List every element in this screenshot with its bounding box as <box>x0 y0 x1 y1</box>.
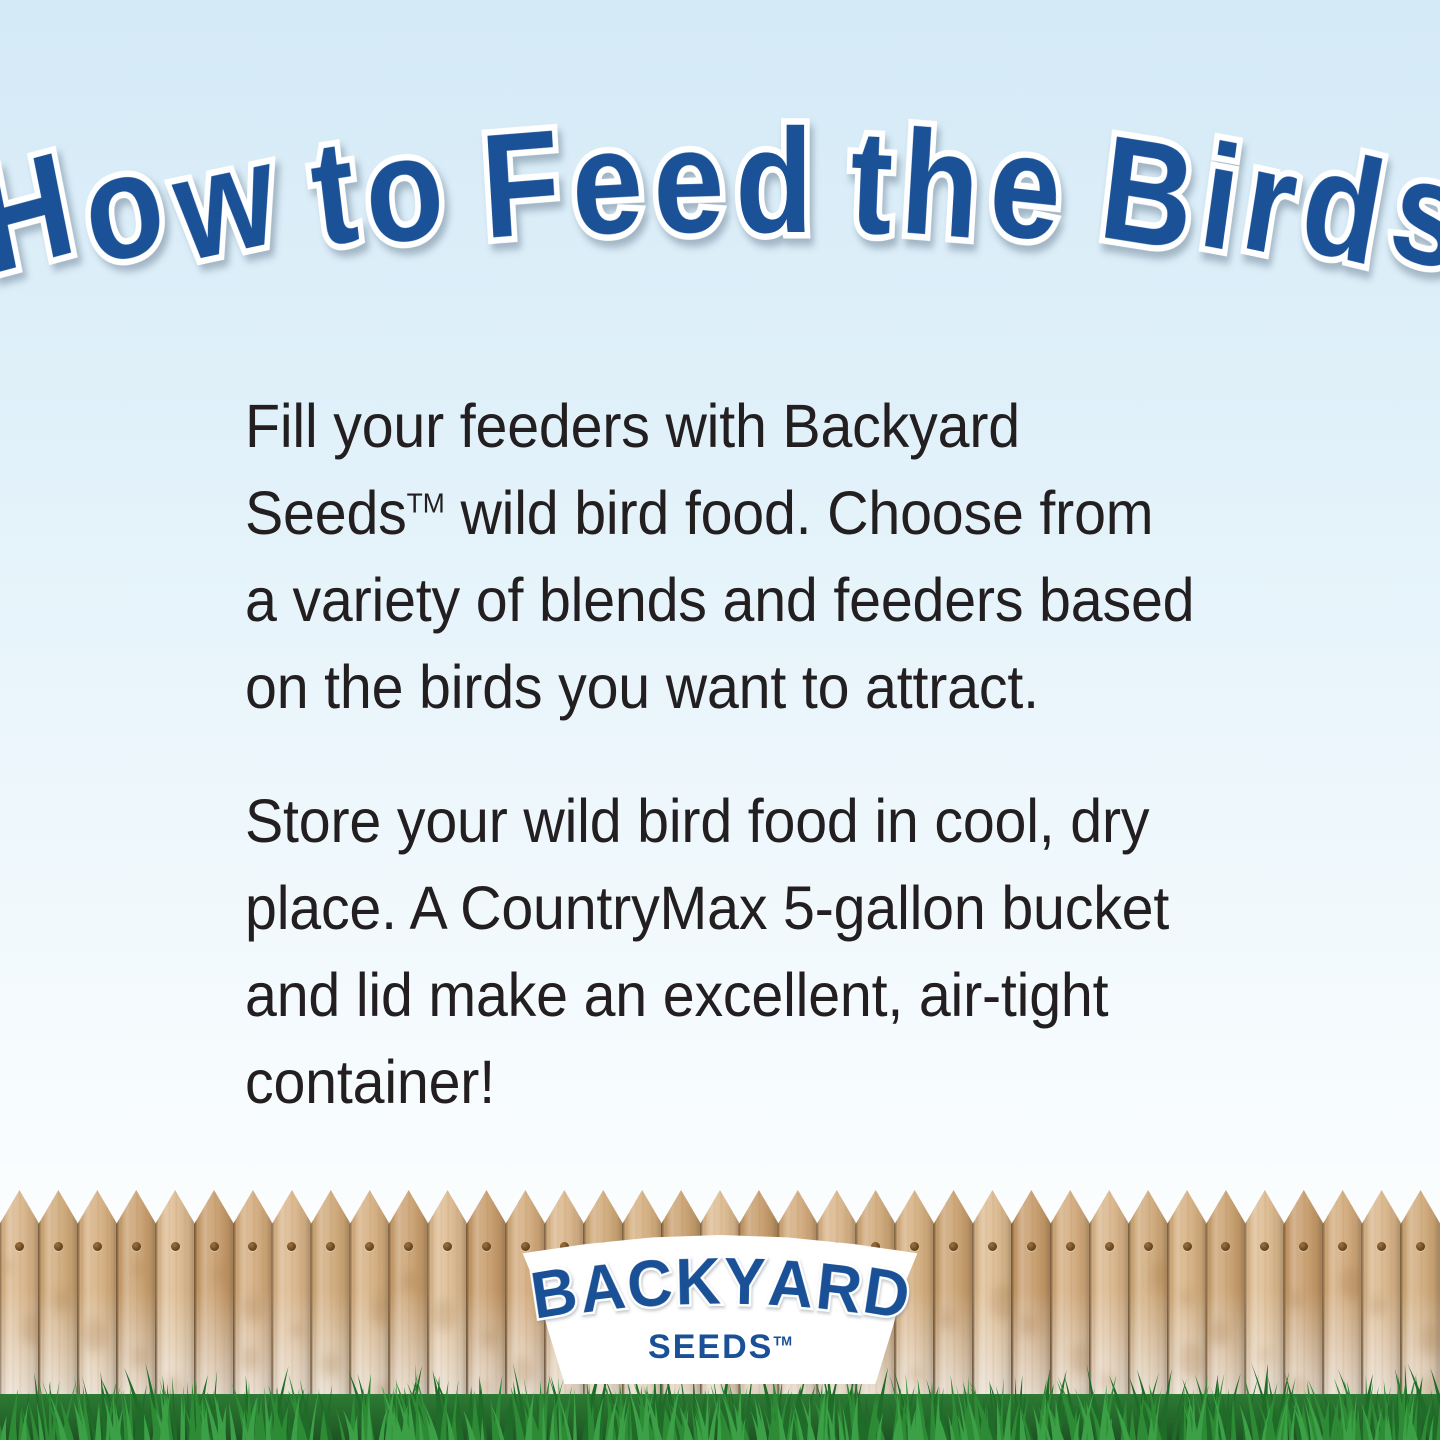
fence-nail-icon <box>1144 1242 1153 1251</box>
logo-wordmark-char: B <box>527 1256 581 1328</box>
fence-nail-icon <box>1066 1242 1075 1251</box>
logo-wordmark-char: C <box>625 1249 673 1318</box>
wood-knot <box>213 1265 226 1283</box>
headline-char: w <box>165 119 284 285</box>
grass-blade <box>310 1388 320 1440</box>
headline-char: t <box>305 117 363 270</box>
headline-char: o <box>72 126 172 289</box>
logo-wordmark-char: K <box>675 1248 721 1315</box>
body-copy: Fill your feeders with Backyard SeedsTM … <box>245 383 1255 1126</box>
headline-space <box>444 112 478 262</box>
fence-nail-icon <box>1105 1242 1114 1251</box>
logo-wordmark-char: Y <box>723 1248 765 1315</box>
grass-blade <box>0 1416 6 1440</box>
grass-blade <box>8 1389 18 1440</box>
headline-arc-text: How to Feed the Birds <box>0 108 1440 286</box>
fence-nail-icon <box>949 1242 958 1251</box>
headline-char: s <box>1380 133 1440 295</box>
poster-canvas: How to Feed the Birds Fill your feeders … <box>0 0 1440 1440</box>
wood-knot <box>940 1309 955 1330</box>
grass-blade <box>217 1397 222 1440</box>
headline-char: o <box>358 111 448 268</box>
headline-space <box>1062 115 1099 265</box>
fence-nail-icon <box>54 1242 63 1251</box>
logo-wordmark-char: R <box>813 1251 864 1322</box>
logo-wordmark: BACKYARD <box>510 1248 930 1328</box>
headline-char: B <box>1093 113 1200 274</box>
headline-char: r <box>1234 125 1304 281</box>
headline-char: e <box>985 110 1065 265</box>
wood-knot <box>53 1289 70 1313</box>
grass-blade <box>1159 1369 1172 1440</box>
paragraph-1: Fill your feeders with Backyard SeedsTM … <box>245 383 1194 731</box>
logo-wordmark-char: A <box>576 1251 627 1322</box>
page-title: How to Feed the Birds <box>0 108 1440 318</box>
headline-char: i <box>1193 121 1246 273</box>
headline-char: d <box>735 108 811 256</box>
fence-nail-icon <box>15 1242 24 1251</box>
fence-nail-icon <box>482 1242 491 1251</box>
fence-nail-icon <box>210 1242 219 1251</box>
headline-char: F <box>478 108 563 262</box>
grass-blade <box>272 1386 278 1440</box>
logo-wordmark-char: A <box>766 1249 814 1318</box>
headline-char: e <box>652 107 724 257</box>
wood-knot <box>1181 1290 1193 1307</box>
logo-subtext: SEEDSTM <box>510 1328 930 1367</box>
headline-char: H <box>0 130 82 298</box>
grass-blade <box>95 1402 101 1440</box>
headline-char: d <box>1292 126 1392 289</box>
fence-nail-icon <box>1416 1242 1425 1251</box>
fence-nail-icon <box>93 1242 102 1251</box>
headline-char: e <box>568 108 643 259</box>
grass-blade <box>229 1402 237 1440</box>
fence-nail-icon <box>1027 1242 1036 1251</box>
headline-char: t <box>847 108 893 258</box>
logo-trademark-symbol: TM <box>773 1334 792 1349</box>
paragraph-2: Store your wild bird food in cool, dry p… <box>245 778 1194 1126</box>
headline-space <box>274 122 316 272</box>
logo-wordmark-char: D <box>860 1256 914 1328</box>
headline-space <box>819 108 844 257</box>
wood-knot <box>1289 1290 1303 1310</box>
fence-nail-icon <box>988 1242 997 1251</box>
wood-knot <box>243 1294 263 1322</box>
fence-nail-icon <box>171 1242 180 1251</box>
brand-logo: BACKYARD SEEDSTM <box>510 1232 930 1384</box>
grass-blade <box>172 1376 177 1440</box>
fence-nail-icon <box>443 1242 452 1251</box>
fence-nail-icon <box>1183 1242 1192 1251</box>
grass-blade <box>1130 1409 1137 1440</box>
grass-blade <box>573 1389 577 1440</box>
trademark-symbol: TM <box>407 488 445 519</box>
fence-nail-icon <box>132 1242 141 1251</box>
wood-knot <box>3 1260 13 1274</box>
headline-char: h <box>897 108 982 262</box>
wood-knot <box>1340 1266 1364 1300</box>
logo-subtext-label: SEEDS <box>648 1328 773 1366</box>
wood-knot <box>132 1260 144 1277</box>
